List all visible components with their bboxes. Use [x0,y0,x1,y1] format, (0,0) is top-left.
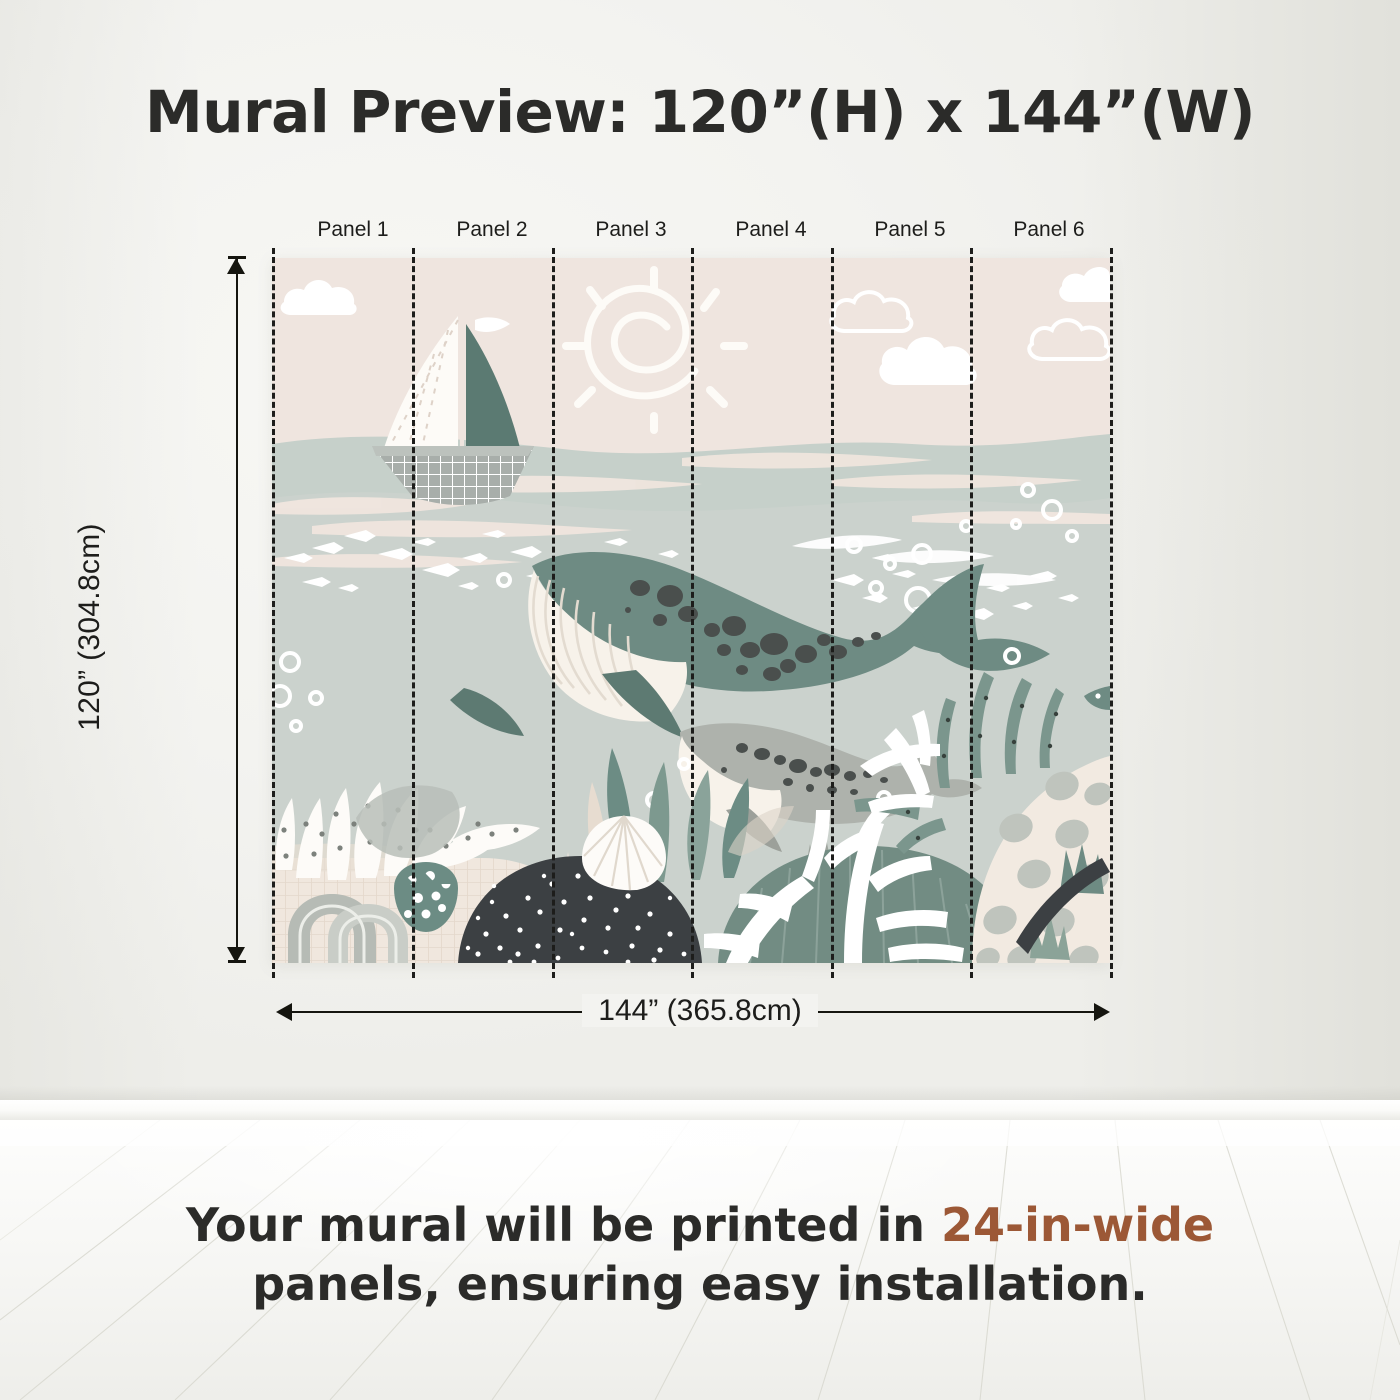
panel-label-4: Panel 4 [701,218,841,242]
height-dimension-label: 120” (304.8cm) [73,477,107,777]
panel-label-5: Panel 5 [840,218,980,242]
panel-divider-2 [552,248,555,978]
panel-divider-4 [831,248,834,978]
height-dimension-line [236,258,238,963]
height-tick-top [228,256,246,259]
caption-text: Your mural will be printed in 24-in-wide… [0,1196,1400,1314]
panel-label-3: Panel 3 [561,218,701,242]
caption-line2: panels, ensuring easy installation. [252,1257,1147,1311]
panel-divider-6 [1110,248,1113,978]
width-dimension-label: 144” (365.8cm) [0,994,1400,1028]
panel-label-6: Panel 6 [979,218,1119,242]
wall-shadow-right [1070,0,1400,1118]
baseboard [0,1100,1400,1122]
panel-divider-5 [970,248,973,978]
height-arrow-top [227,258,245,274]
height-tick-bottom [228,960,246,963]
panel-label-2: Panel 2 [422,218,562,242]
mural-preview-stage: Panel 1 Panel 2 Panel 3 Panel 4 Panel 5 … [0,0,1400,1400]
panel-label-1: Panel 1 [283,218,423,242]
panel-divider-0 [272,248,275,978]
caption-accent: 24-in-wide [941,1198,1214,1252]
page-title: Mural Preview: 120”(H) x 144”(W) [0,78,1400,146]
caption-line1-pre: Your mural will be printed in [186,1198,941,1252]
width-dimension-text: 144” (365.8cm) [582,994,817,1027]
panel-divider-3 [691,248,694,978]
panel-divider-1 [412,248,415,978]
